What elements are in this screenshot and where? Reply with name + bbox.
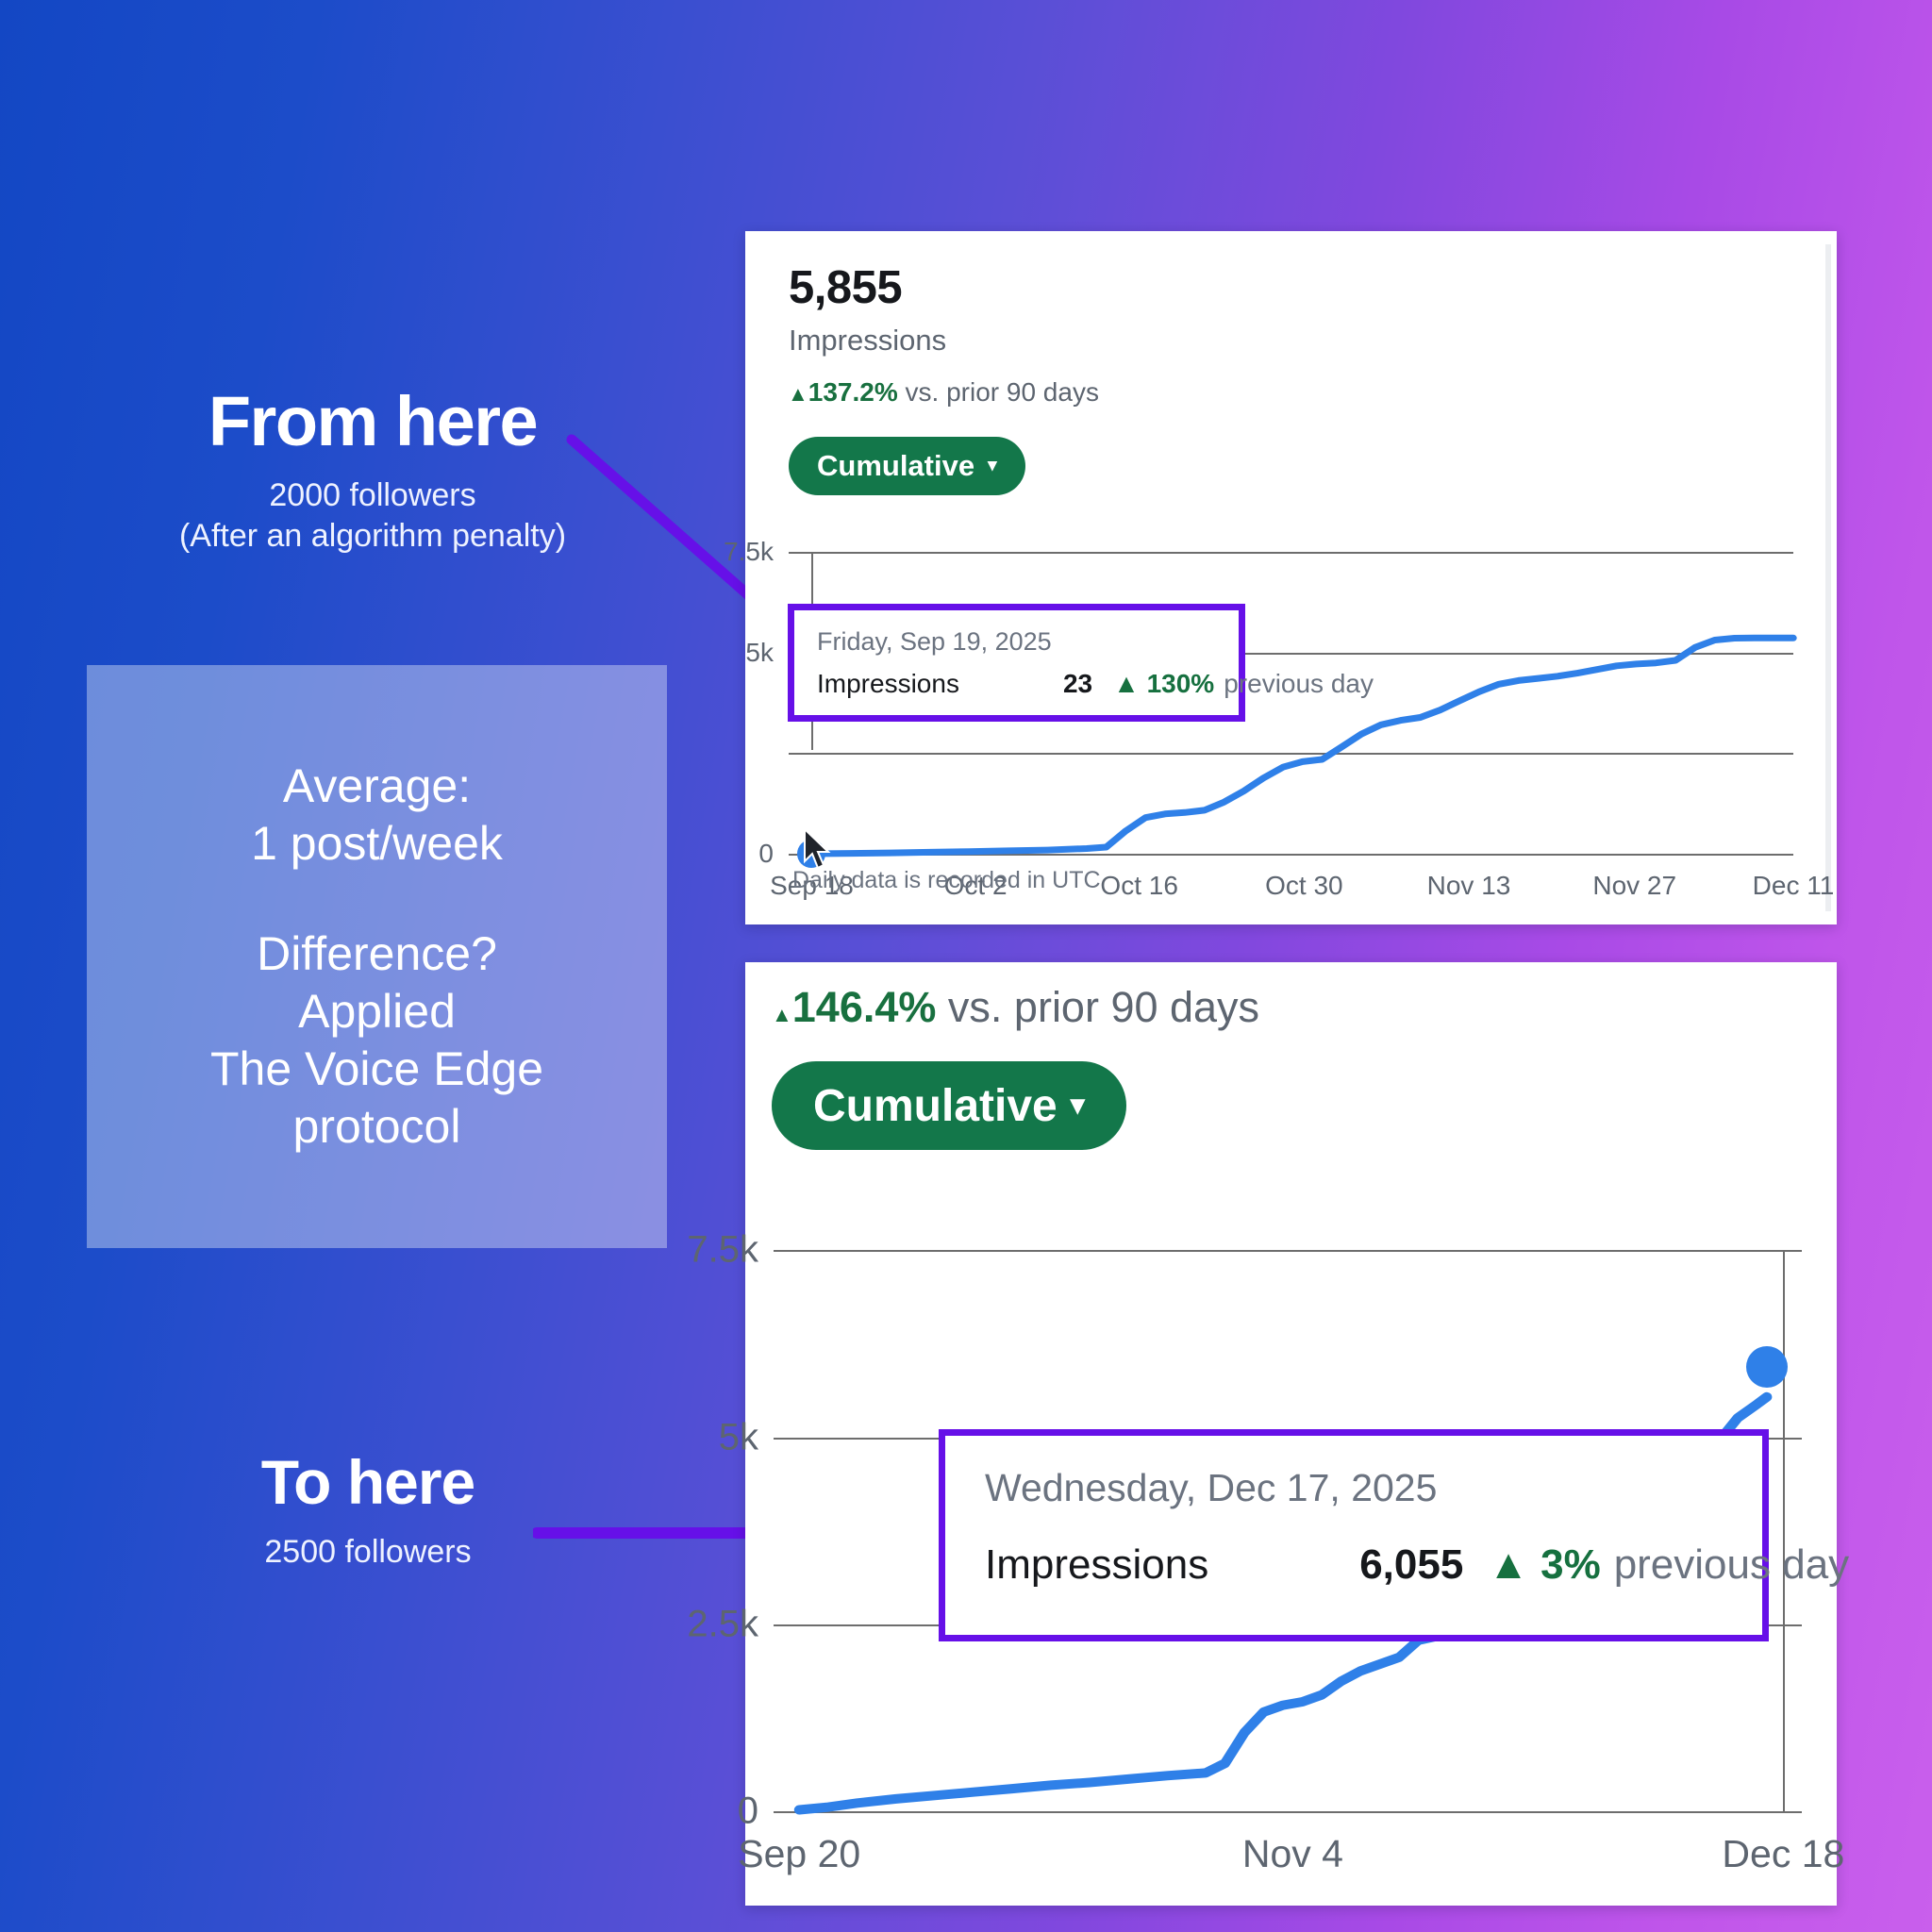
ytick-label-7500-bottom: 7.5k (687, 1229, 774, 1272)
ytick-label-5000-bottom: 5k (719, 1416, 774, 1458)
tooltip-percent-top: 130% (1147, 669, 1215, 698)
xtick-sep-20: Sep 20 (738, 1832, 860, 1876)
ytick-label-2500-bottom: 2.5k (687, 1603, 774, 1645)
highlight-note-panel: Average: 1 post/week Difference? Applied… (87, 665, 667, 1248)
delta-up-triangle-icon: ▲137.2% (788, 377, 898, 407)
delta-percent-value-bottom: 146.4% (792, 983, 937, 1031)
impressions-delta-row-bottom: ▲146.4% vs. prior 90 days (772, 983, 1259, 1032)
impressions-total-value: 5,855 (789, 261, 902, 314)
tooltip-delta-top: ▲ 130% (1113, 669, 1214, 699)
impressions-card-top: 5,855 Impressions ▲137.2% vs. prior 90 d… (745, 231, 1837, 924)
left-annotation-column: From here 2000 followers (After an algor… (0, 0, 717, 1932)
chevron-down-icon: ▾ (988, 457, 997, 475)
cumulative-dropdown-bottom[interactable]: Cumulative ▾ (772, 1061, 1126, 1150)
note-line-protocol-word: protocol (293, 1098, 461, 1156)
axis-baseline-bottom (774, 1811, 1802, 1813)
from-here-block: From here 2000 followers (After an algor… (127, 387, 618, 556)
tooltip-triangle-icon-top: ▲ (1113, 669, 1140, 698)
delta-comparison-label: vs. prior 90 days (906, 377, 1099, 407)
xtick-oct-30: Oct 30 (1265, 871, 1342, 901)
tooltip-suffix-top: previous day (1224, 669, 1374, 699)
tooltip-delta-bottom: ▲ 3% (1488, 1541, 1600, 1589)
scrollbar-track-top[interactable] (1825, 244, 1831, 911)
chart-footnote-top: Daily data is recorded in UTC (792, 867, 1101, 894)
tooltip-percent-bottom: 3% (1541, 1541, 1601, 1588)
note-line-cadence: 1 post/week (251, 815, 503, 873)
tooltip-date-top: Friday, Sep 19, 2025 (817, 627, 1052, 657)
tooltip-metric-top: Impressions (817, 669, 959, 699)
tooltip-suffix-bottom: previous day (1614, 1541, 1849, 1589)
impressions-card-bottom: ▲146.4% vs. prior 90 days Cumulative ▾ 7… (745, 962, 1837, 1906)
cumulative-label-top: Cumulative (817, 449, 974, 483)
from-here-followers: 2000 followers (127, 475, 618, 516)
tooltip-metric-bottom: Impressions (985, 1541, 1208, 1589)
tooltip-value-row-top: Impressions 23 ▲ 130% previous day (817, 669, 1374, 699)
impressions-delta-row: ▲137.2% vs. prior 90 days (788, 377, 1099, 408)
xtick-nov-4: Nov 4 (1242, 1832, 1343, 1876)
xtick-nov-27: Nov 27 (1592, 871, 1676, 901)
tooltip-value-top: 23 (1063, 669, 1092, 699)
delta-comparison-label-bottom: vs. prior 90 days (948, 983, 1259, 1031)
xtick-dec-11: Dec 11 (1753, 871, 1835, 901)
ytick-label-0: 0 (758, 839, 789, 869)
chevron-down-icon-bottom: ▾ (1071, 1091, 1085, 1120)
tooltip-date-bottom: Wednesday, Dec 17, 2025 (985, 1466, 1437, 1510)
note-line-average: Average: (283, 758, 471, 815)
delta-percent-value: 137.2% (808, 377, 898, 407)
xtick-oct-16: Oct 16 (1100, 871, 1177, 901)
ytick-label-5000: 5k (745, 638, 789, 668)
note-line-protocol-name: The Voice Edge (210, 1041, 543, 1098)
tooltip-triangle-icon-bottom: ▲ (1488, 1541, 1529, 1588)
note-line-applied: Applied (298, 983, 456, 1041)
chart-tooltip-bottom: Wednesday, Dec 17, 2025 Impressions 6,05… (939, 1429, 1769, 1641)
to-here-block: To here 2500 followers (151, 1451, 585, 1571)
from-here-title: From here (127, 387, 618, 457)
from-here-note: (After an algorithm penalty) (127, 516, 618, 557)
cumulative-dropdown-top[interactable]: Cumulative ▾ (789, 437, 1025, 495)
hovered-data-point-bottom[interactable] (1746, 1346, 1788, 1388)
tooltip-value-bottom: 6,055 (1359, 1541, 1463, 1589)
cumulative-label-bottom: Cumulative (813, 1080, 1058, 1132)
to-here-followers: 2500 followers (151, 1534, 585, 1571)
ytick-label-0-bottom: 0 (738, 1790, 774, 1833)
hovered-data-point-top[interactable] (797, 840, 825, 868)
tooltip-value-row-bottom: Impressions 6,055 ▲ 3% previous day (985, 1541, 1849, 1589)
note-line-difference: Difference? (257, 925, 497, 983)
xtick-nov-13: Nov 13 (1427, 871, 1511, 901)
chart-tooltip-top: Friday, Sep 19, 2025 Impressions 23 ▲ 13… (788, 604, 1245, 722)
to-here-title: To here (151, 1451, 585, 1513)
impressions-metric-label: Impressions (789, 324, 946, 358)
delta-up-triangle-icon-bottom: ▲146.4% (772, 983, 936, 1031)
xtick-dec-18: Dec 18 (1722, 1832, 1844, 1876)
ytick-label-7500: 7.5k (724, 537, 789, 567)
